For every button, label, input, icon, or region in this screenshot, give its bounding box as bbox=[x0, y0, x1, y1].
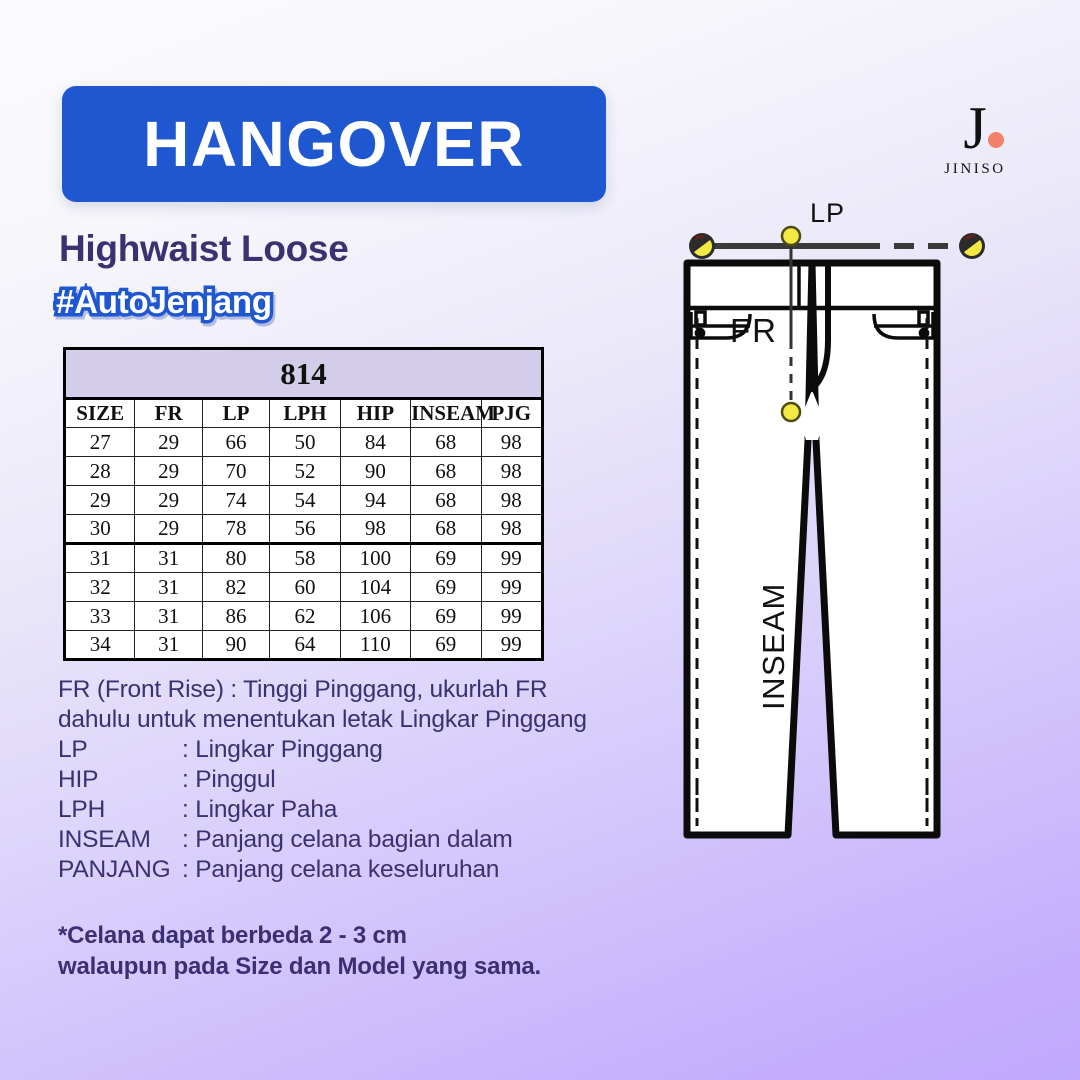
cell-fr: 31 bbox=[135, 602, 202, 631]
legend-key: LPH bbox=[58, 795, 182, 825]
legend-value: : Lingkar Paha bbox=[182, 795, 337, 825]
cell-lph: 64 bbox=[270, 631, 340, 660]
table-row: 333186621066999 bbox=[65, 602, 543, 631]
cell-fr: 29 bbox=[135, 457, 202, 486]
col-header-lp: LP bbox=[202, 399, 269, 428]
cell-lph: 62 bbox=[270, 602, 340, 631]
cell-fr: 31 bbox=[135, 573, 202, 602]
legend-item: LP: Lingkar Pinggang bbox=[58, 735, 587, 765]
cell-lph: 50 bbox=[270, 428, 340, 457]
table-row: 313180581006999 bbox=[65, 544, 543, 573]
legend-value: : Pinggul bbox=[182, 765, 276, 795]
lp-measure-line bbox=[689, 233, 985, 259]
legend-item: PANJANG: Panjang celana keseluruhan bbox=[58, 855, 587, 885]
cell-fr: 29 bbox=[135, 515, 202, 544]
footnote-line-2: walaupun pada Size dan Model yang sama. bbox=[58, 951, 541, 982]
legend-item: LPH: Lingkar Paha bbox=[58, 795, 587, 825]
cell-pjg: 98 bbox=[481, 486, 543, 515]
cell-pjg: 99 bbox=[481, 602, 543, 631]
cell-hip: 98 bbox=[340, 515, 410, 544]
cell-lph: 60 bbox=[270, 573, 340, 602]
legend-fr-line-2: dahulu untuk menentukan letak Lingkar Pi… bbox=[58, 705, 587, 735]
cell-fr: 29 bbox=[135, 486, 202, 515]
hashtag-badge: #AutoJenjang bbox=[56, 283, 272, 321]
cell-hip: 106 bbox=[340, 602, 410, 631]
table-row: 27296650846898 bbox=[65, 428, 543, 457]
product-title-banner: HANGOVER bbox=[62, 86, 606, 202]
cell-hip: 104 bbox=[340, 573, 410, 602]
cell-fr: 31 bbox=[135, 544, 202, 573]
table-header-row: SIZE FR LP LPH HIP INSEAM PJG bbox=[65, 399, 543, 428]
cell-lp: 74 bbox=[202, 486, 269, 515]
col-header-lph: LPH bbox=[270, 399, 340, 428]
cell-lp: 90 bbox=[202, 631, 269, 660]
cell-lp: 78 bbox=[202, 515, 269, 544]
legend-key: PANJANG bbox=[58, 855, 182, 885]
col-header-inseam: INSEAM bbox=[411, 399, 481, 428]
table-row: 28297052906898 bbox=[65, 457, 543, 486]
table-row: 29297454946898 bbox=[65, 486, 543, 515]
cell-size: 34 bbox=[65, 631, 135, 660]
cell-inseam: 69 bbox=[411, 544, 481, 573]
cell-hip: 94 bbox=[340, 486, 410, 515]
legend-key: INSEAM bbox=[58, 825, 182, 855]
table-row: 323182601046999 bbox=[65, 573, 543, 602]
cell-lp: 80 bbox=[202, 544, 269, 573]
cell-pjg: 99 bbox=[481, 573, 543, 602]
logo-j-letter: J bbox=[963, 95, 986, 161]
col-header-fr: FR bbox=[135, 399, 202, 428]
cell-pjg: 99 bbox=[481, 544, 543, 573]
cell-lph: 52 bbox=[270, 457, 340, 486]
cell-inseam: 69 bbox=[411, 631, 481, 660]
cell-inseam: 68 bbox=[411, 457, 481, 486]
legend-block: FR (Front Rise) : Tinggi Pinggang, ukurl… bbox=[58, 675, 587, 885]
left-column: HANGOVER Highwaist Loose #AutoJenjang 81… bbox=[0, 0, 690, 1080]
footnote-line-1: *Celana dapat berbeda 2 - 3 cm bbox=[58, 920, 541, 951]
table-row: 30297856986898 bbox=[65, 515, 543, 544]
cell-hip: 110 bbox=[340, 631, 410, 660]
cell-inseam: 68 bbox=[411, 515, 481, 544]
cell-hip: 100 bbox=[340, 544, 410, 573]
legend-items: LP: Lingkar PinggangHIP: PinggulLPH: Lin… bbox=[58, 735, 587, 885]
cell-inseam: 68 bbox=[411, 428, 481, 457]
cell-size: 27 bbox=[65, 428, 135, 457]
cell-lp: 82 bbox=[202, 573, 269, 602]
cell-size: 28 bbox=[65, 457, 135, 486]
pants-measurement-diagram: FR INSEAM bbox=[660, 190, 1060, 910]
legend-item: INSEAM: Panjang celana bagian dalam bbox=[58, 825, 587, 855]
table-title-row: 814 bbox=[65, 349, 543, 399]
table-row: 343190641106999 bbox=[65, 631, 543, 660]
cell-lph: 54 bbox=[270, 486, 340, 515]
cell-pjg: 98 bbox=[481, 515, 543, 544]
col-header-size: SIZE bbox=[65, 399, 135, 428]
cell-lp: 86 bbox=[202, 602, 269, 631]
logo-wordmark: JINISO bbox=[930, 161, 1020, 178]
cell-lph: 58 bbox=[270, 544, 340, 573]
table-body: 2729665084689828297052906898292974549468… bbox=[65, 428, 543, 660]
logo-j-mark: J bbox=[963, 100, 986, 157]
cell-size: 30 bbox=[65, 515, 135, 544]
cell-lp: 66 bbox=[202, 428, 269, 457]
cell-inseam: 68 bbox=[411, 486, 481, 515]
size-chart-table: 814 SIZE FR LP LPH HIP INSEAM PJG 272966… bbox=[63, 347, 544, 661]
cell-inseam: 69 bbox=[411, 573, 481, 602]
product-subtitle: Highwaist Loose bbox=[59, 228, 348, 270]
cell-hip: 90 bbox=[340, 457, 410, 486]
legend-value: : Panjang celana bagian dalam bbox=[182, 825, 513, 855]
legend-key: HIP bbox=[58, 765, 182, 795]
cell-size: 32 bbox=[65, 573, 135, 602]
cell-inseam: 69 bbox=[411, 602, 481, 631]
cell-pjg: 98 bbox=[481, 428, 543, 457]
cell-lph: 56 bbox=[270, 515, 340, 544]
legend-value: : Lingkar Pinggang bbox=[182, 735, 383, 765]
product-title: HANGOVER bbox=[143, 112, 525, 176]
cell-pjg: 99 bbox=[481, 631, 543, 660]
legend-value: : Panjang celana keseluruhan bbox=[182, 855, 499, 885]
cell-fr: 29 bbox=[135, 428, 202, 457]
legend-fr-line-1: FR (Front Rise) : Tinggi Pinggang, ukurl… bbox=[58, 675, 587, 705]
inseam-label: INSEAM bbox=[756, 582, 791, 710]
col-header-hip: HIP bbox=[340, 399, 410, 428]
cell-size: 31 bbox=[65, 544, 135, 573]
brand-logo: J JINISO bbox=[930, 100, 1020, 178]
cell-hip: 84 bbox=[340, 428, 410, 457]
legend-key: LP bbox=[58, 735, 182, 765]
cell-lp: 70 bbox=[202, 457, 269, 486]
cell-size: 33 bbox=[65, 602, 135, 631]
table-model-code: 814 bbox=[65, 349, 543, 399]
logo-dot-icon bbox=[988, 132, 1004, 148]
cell-pjg: 98 bbox=[481, 457, 543, 486]
footnote-block: *Celana dapat berbeda 2 - 3 cm walaupun … bbox=[58, 920, 541, 982]
cell-size: 29 bbox=[65, 486, 135, 515]
fr-label: FR bbox=[730, 312, 778, 349]
cell-fr: 31 bbox=[135, 631, 202, 660]
legend-item: HIP: Pinggul bbox=[58, 765, 587, 795]
